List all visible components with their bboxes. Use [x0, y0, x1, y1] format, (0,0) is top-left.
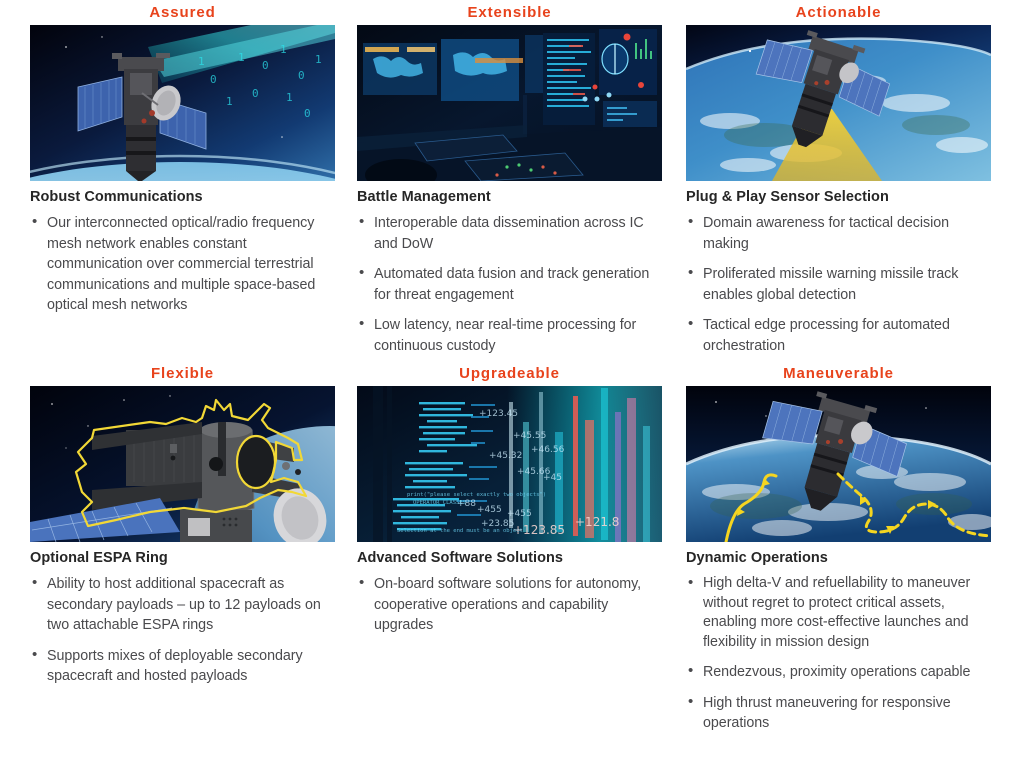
- svg-text:+121.8: +121.8: [575, 515, 619, 529]
- feature-card-extensible: Extensible: [357, 3, 662, 366]
- svg-text:1: 1: [226, 95, 233, 108]
- maneuvering-satellite-trajectory-image: [686, 386, 991, 542]
- list-item: Rendezvous, proximity operations capable: [686, 662, 991, 683]
- feature-card-grid: Assured: [0, 0, 1016, 771]
- card-eyebrow: Actionable: [686, 3, 991, 23]
- svg-text:1: 1: [315, 53, 322, 66]
- feature-card-actionable: Actionable: [686, 3, 991, 366]
- espa-ring-highlight-image: [30, 386, 335, 542]
- svg-text:0: 0: [210, 73, 217, 86]
- card-bullet-list: On-board software solutions for autonomy…: [357, 574, 662, 636]
- svg-text:1: 1: [198, 55, 205, 68]
- card-eyebrow: Flexible: [30, 364, 335, 384]
- software-code-data-stream-image: +123.45+45.55 +46.56+45.32 +45.66+45 +88…: [357, 386, 662, 542]
- card-bullet-list: Ability to host additional spacecraft as…: [30, 574, 335, 687]
- card-eyebrow: Extensible: [357, 3, 662, 23]
- svg-text:0: 0: [252, 87, 259, 100]
- card-title: Dynamic Operations: [686, 549, 991, 568]
- svg-text:0: 0: [262, 59, 269, 72]
- card-bullet-list: Interoperable data dissemination across …: [357, 213, 662, 356]
- list-item: High thrust maneuvering for responsive o…: [686, 693, 991, 734]
- svg-text:0: 0: [304, 107, 311, 120]
- svg-text:print("please select exactly t: print("please select exactly two objects…: [407, 492, 546, 498]
- card-bullet-list: High delta-V and refuellability to maneu…: [686, 574, 991, 734]
- card-bullet-list: Our interconnected optical/radio frequen…: [30, 213, 335, 316]
- sensor-satellite-yellow-beam-image: [686, 25, 991, 181]
- svg-text:1: 1: [286, 91, 293, 104]
- list-item: On-board software solutions for autonomy…: [357, 574, 662, 636]
- svg-text:1: 1: [280, 43, 287, 56]
- card-title: Battle Management: [357, 188, 662, 207]
- svg-text:+455: +455: [477, 505, 502, 515]
- card-eyebrow: Upgradeable: [357, 364, 662, 384]
- feature-card-assured: Assured: [30, 3, 335, 326]
- card-eyebrow: Maneuverable: [686, 364, 991, 384]
- svg-text:+46.56: +46.56: [531, 445, 565, 455]
- list-item: Ability to host additional spacecraft as…: [30, 574, 335, 636]
- list-item: High delta-V and refuellability to maneu…: [686, 574, 991, 652]
- list-item: Tactical edge processing for automated o…: [686, 315, 991, 356]
- svg-text:+123.45: +123.45: [479, 409, 518, 419]
- card-title: Plug & Play Sensor Selection: [686, 188, 991, 207]
- card-bullet-list: Domain awareness for tactical decision m…: [686, 213, 991, 356]
- svg-text:1: 1: [238, 51, 245, 64]
- svg-text:OPERATOR CLASSES: OPERATOR CLASSES: [413, 500, 466, 506]
- svg-text:0: 0: [298, 69, 305, 82]
- feature-card-flexible: Flexible: [30, 364, 335, 697]
- card-title: Advanced Software Solutions: [357, 549, 662, 568]
- svg-text:+455: +455: [507, 509, 532, 519]
- list-item: Proliferated missile warning missile tra…: [686, 264, 991, 305]
- svg-text:+45: +45: [543, 473, 562, 483]
- card-title: Robust Communications: [30, 188, 335, 207]
- feature-card-maneuverable: Maneuverable: [686, 364, 991, 744]
- list-item: Low latency, near real-time processing f…: [357, 315, 662, 356]
- svg-text:+45.32: +45.32: [489, 451, 522, 461]
- satellite-optical-laser-link-image: 010 101 101 01: [30, 25, 335, 181]
- svg-text:Selection at the end must be a: Selection at the end must be an object: [397, 528, 523, 534]
- list-item: Interoperable data dissemination across …: [357, 213, 662, 254]
- list-item: Supports mixes of deployable secondary s…: [30, 646, 335, 687]
- list-item: Our interconnected optical/radio frequen…: [30, 213, 335, 316]
- list-item: Domain awareness for tactical decision m…: [686, 213, 991, 254]
- card-title: Optional ESPA Ring: [30, 549, 335, 568]
- card-eyebrow: Assured: [30, 3, 335, 23]
- battle-management-operations-center-image: [357, 25, 662, 181]
- list-item: Automated data fusion and track generati…: [357, 264, 662, 305]
- feature-card-upgradeable: Upgradeable: [357, 364, 662, 646]
- svg-text:+45.55: +45.55: [513, 431, 546, 441]
